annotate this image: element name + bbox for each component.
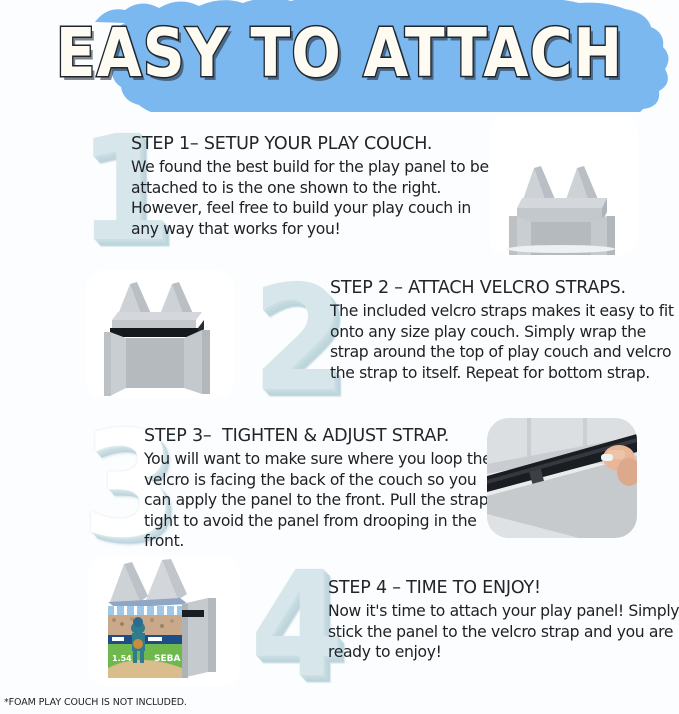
step-text-block-1: STEP 1– SETUP YOUR PLAY COUCH. We found … — [131, 134, 491, 239]
page-title: EASY TO ATTACH — [0, 14, 679, 92]
step-row-4: 4 — [0, 550, 679, 688]
svg-text:SEBA: SEBA — [154, 654, 180, 664]
step-title-1: STEP 1– SETUP YOUR PLAY COUCH. — [131, 134, 491, 154]
footnote-disclaimer: *FOAM PLAY COUCH IS NOT INCLUDED. — [4, 697, 187, 708]
play-couch-with-black-velcro-strap-icon — [86, 270, 234, 398]
svg-text:1.54: 1.54 — [112, 654, 132, 663]
step-title-2: STEP 2 – ATTACH VELCRO STRAPS. — [330, 278, 678, 298]
play-couch-with-baseball-play-panel-icon: 1.54 SEBA — [88, 556, 240, 686]
step-body-1: We found the best build for the play pan… — [131, 157, 491, 239]
step-image-4: 1.54 SEBA — [88, 556, 240, 686]
gray-foam-play-couch-fort-build-icon — [489, 116, 638, 255]
step-body-2: The included velcro straps makes it easy… — [330, 301, 678, 383]
step-title-3: STEP 3– TIGHTEN & ADJUST STRAP. — [144, 426, 494, 446]
step-text-block-4: STEP 4 – TIME TO ENJOY! Now it's time to… — [328, 578, 679, 663]
step-text-block-2: STEP 2 – ATTACH VELCRO STRAPS. The inclu… — [330, 278, 678, 383]
step-body-4: Now it's time to attach your play panel!… — [328, 601, 679, 663]
step-row-3: 3 STEP 3– TIGHTEN & ADJUST STRAP. You wi… — [0, 410, 679, 550]
hand-tightening-velcro-strap-closeup-icon — [487, 418, 637, 538]
step-text-block-3: STEP 3– TIGHTEN & ADJUST STRAP. You will… — [144, 426, 494, 552]
step-title-4: STEP 4 – TIME TO ENJOY! — [328, 578, 679, 598]
step-image-3 — [487, 418, 637, 538]
step-body-3: You will want to make sure where you loo… — [144, 449, 494, 552]
header-banner: EASY TO ATTACH — [0, 0, 679, 112]
step-row-1: 1 STEP 1– SETUP YOUR PLAY COUCH. We foun… — [0, 112, 679, 262]
step-image-2 — [86, 270, 234, 398]
step-row-2: 2 STEP 2 – ATTACH VELCRO STR — [0, 262, 679, 410]
step-image-1 — [489, 116, 638, 255]
